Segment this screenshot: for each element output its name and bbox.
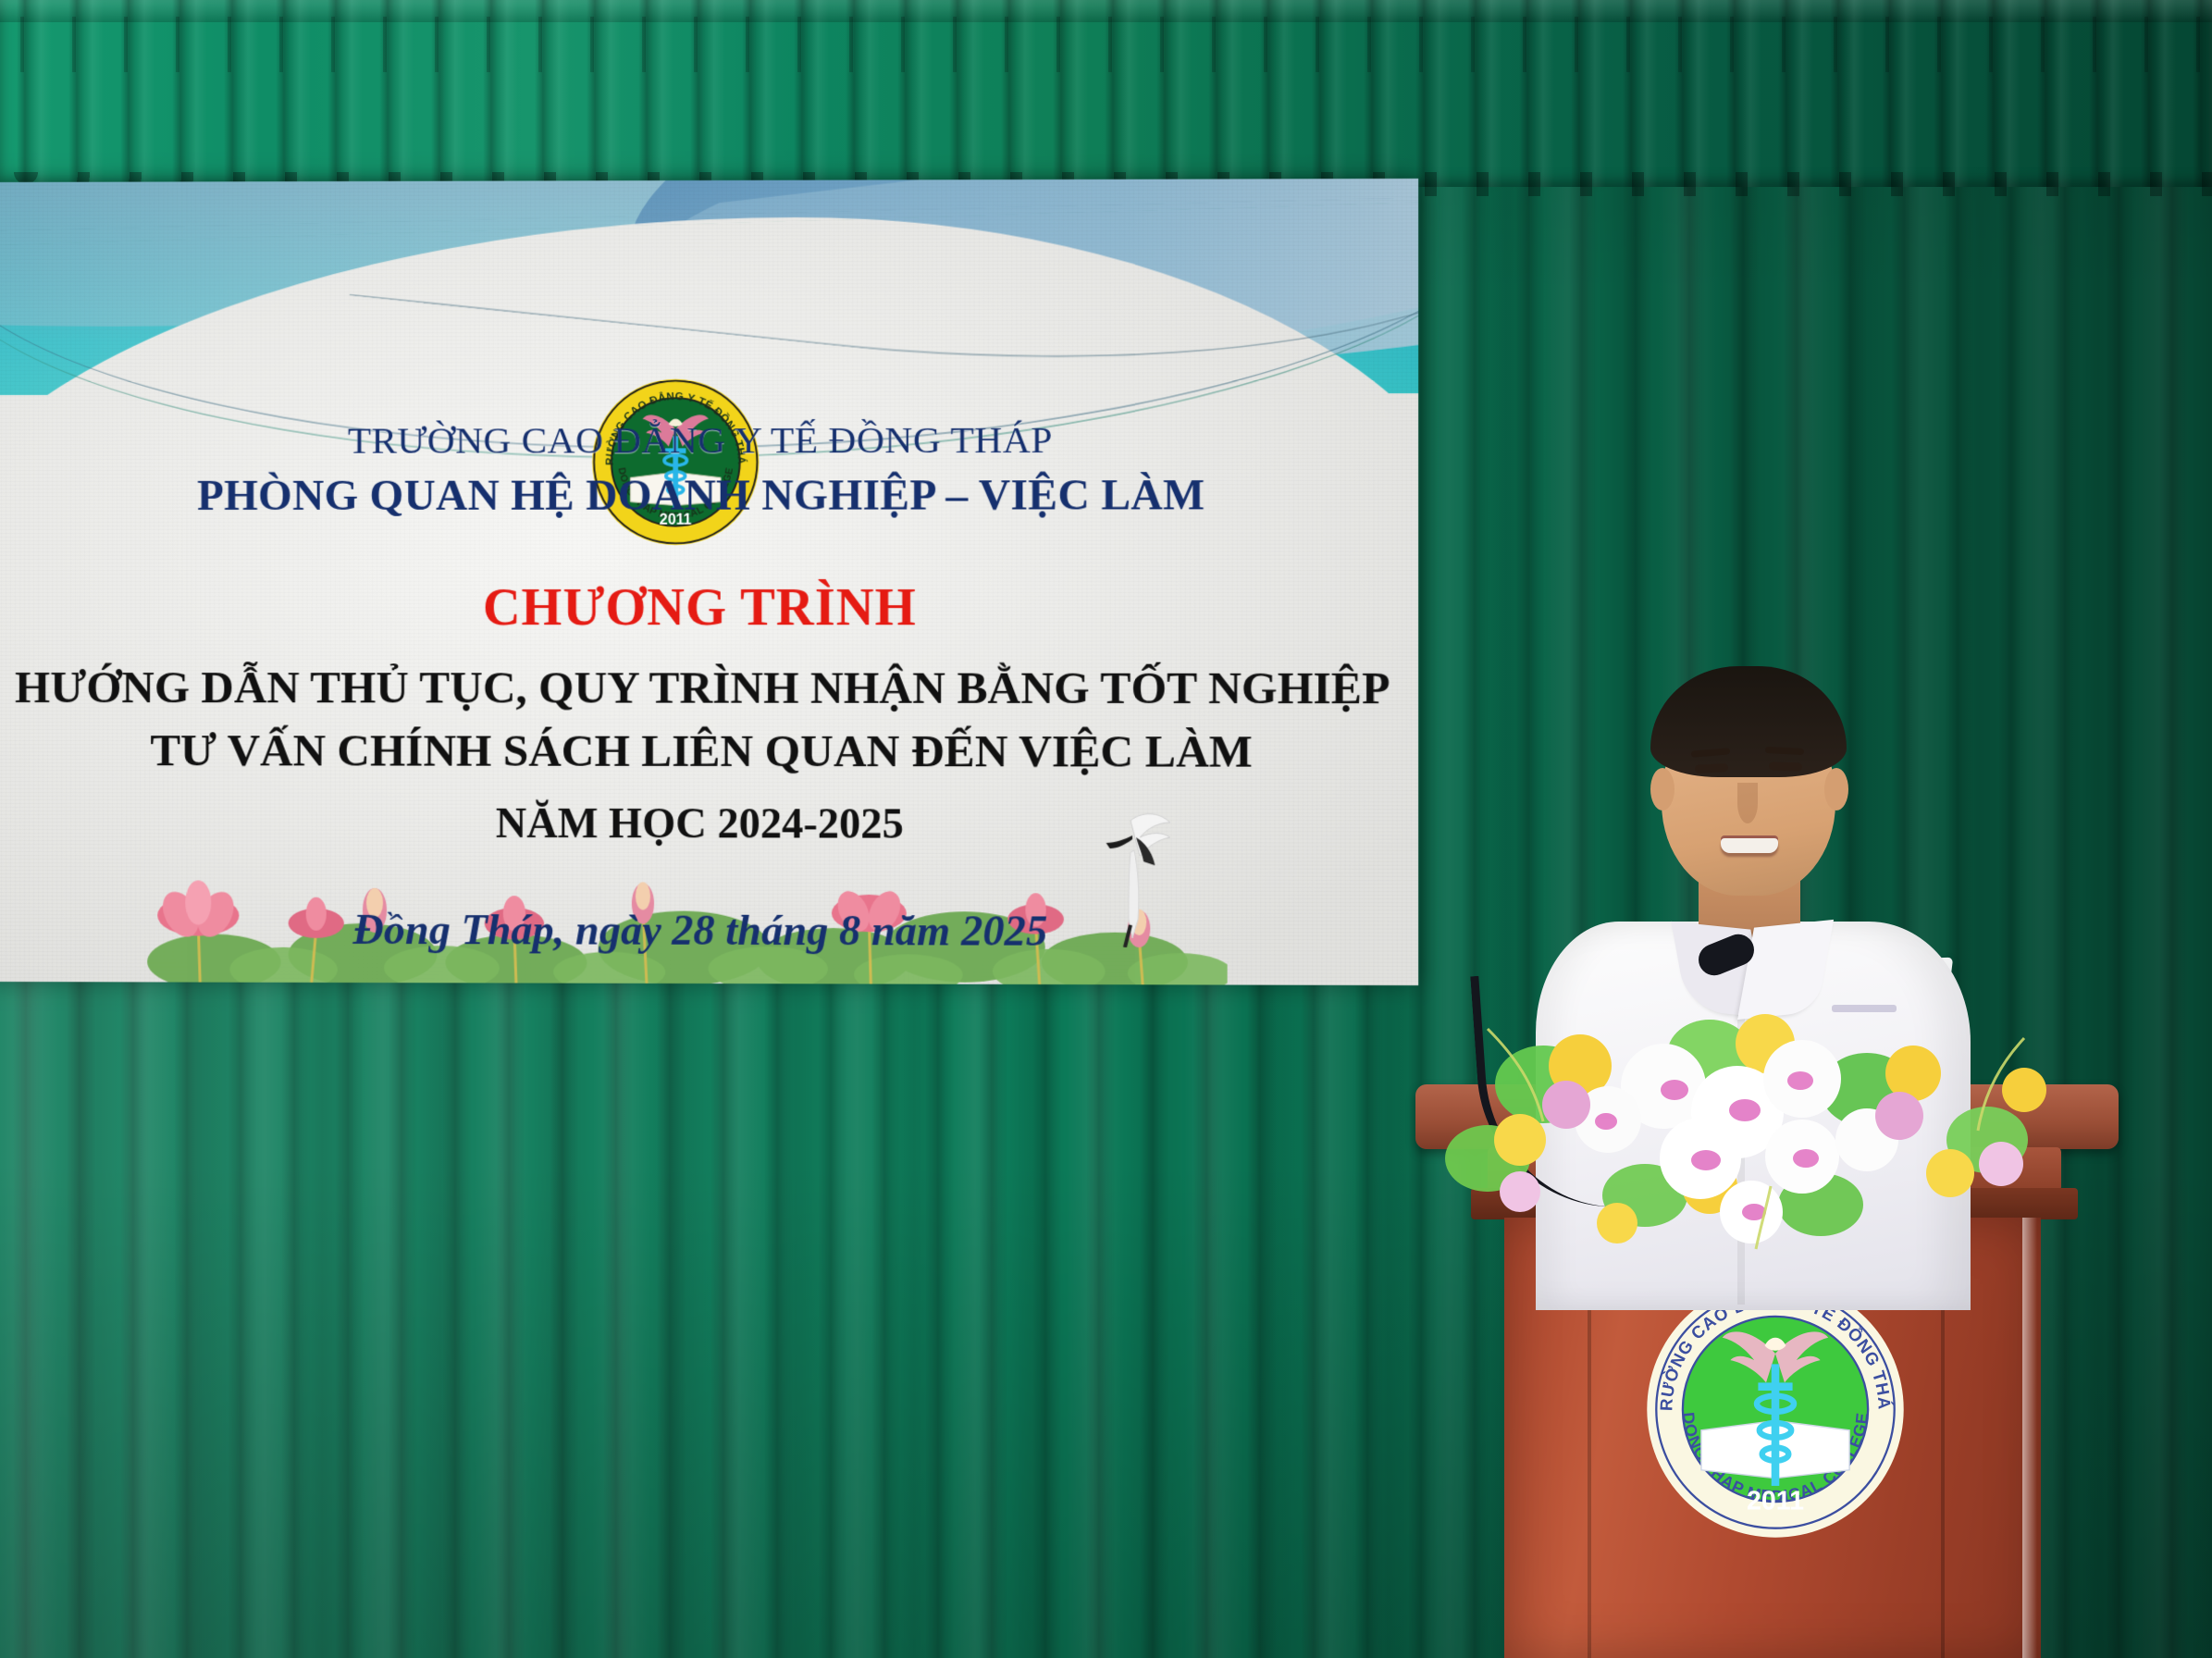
curtain-valance	[0, 0, 2212, 187]
stage-scene: TRƯỜNG CAO ĐẲNG Y TẾ ĐỒNG THÁP DONG THAP…	[0, 0, 2212, 1658]
speaker-ear-left	[1650, 768, 1674, 810]
slide-org-line2: PHÒNG QUAN HỆ DOANH NGHIỆP – VIỆC LÀM	[0, 470, 1418, 521]
speaker-nose	[1737, 783, 1758, 823]
speaker-mouth	[1721, 838, 1778, 853]
projected-slide: TRƯỜNG CAO ĐẲNG Y TẾ ĐỒNG THÁP DONG THAP…	[0, 179, 1418, 985]
slide-title-line2: TƯ VẤN CHÍNH SÁCH LIÊN QUAN ĐẾN VIỆC LÀM	[0, 721, 1418, 782]
slide-program-label: CHƯƠNG TRÌNH	[0, 578, 1418, 638]
speaker-eye-left	[1695, 763, 1728, 773]
podium-flower-arrangement	[1432, 1001, 2080, 1279]
college-logo-podium: TRƯỜNG CAO ĐẲNG Y TẾ ĐỒNG THÁP DONG THAP…	[1643, 1277, 1908, 1541]
slide-org-line1: TRƯỜNG CAO ĐẲNG Y TẾ ĐỒNG THÁP	[0, 416, 1418, 463]
speaker-ear-right	[1824, 768, 1848, 810]
slide-text-block: TRƯỜNG CAO ĐẲNG Y TẾ ĐỒNG THÁP PHÒNG QUA…	[0, 179, 1418, 957]
slide-school-year: NĂM HỌC 2024-2025	[0, 798, 1418, 849]
valance-folds	[0, 0, 2212, 187]
speaker-hair	[1650, 666, 1847, 777]
podium-edge-highlight	[2022, 1218, 2037, 1658]
speaker-eye-right	[1769, 761, 1802, 771]
slide-title-line1: HƯỚNG DẪN THỦ TỤC, QUY TRÌNH NHẬN BẰNG T…	[0, 658, 1418, 718]
svg-text:2011: 2011	[1747, 1487, 1804, 1516]
slide-place-date: Đồng Tháp, ngày 28 tháng 8 năm 2025	[0, 904, 1418, 957]
